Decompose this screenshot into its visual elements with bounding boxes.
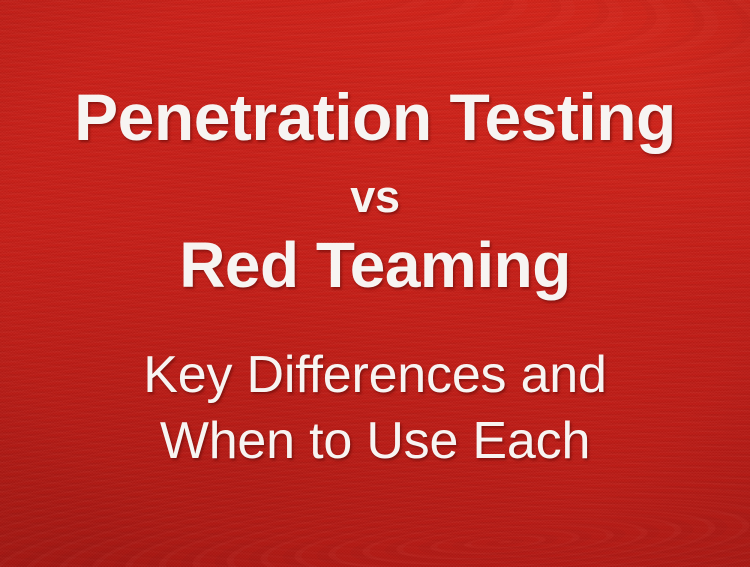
headline-line-1: Penetration Testing bbox=[74, 84, 676, 150]
headline-line-2: Red Teaming bbox=[179, 233, 571, 297]
text-block: Penetration Testing vs Red Teaming Key D… bbox=[0, 0, 750, 567]
headline-separator-vs: vs bbox=[350, 174, 399, 219]
subheading-line-2: When to Use Each bbox=[160, 415, 590, 467]
title-card: Penetration Testing vs Red Teaming Key D… bbox=[0, 0, 750, 567]
subheading-line-1: Key Differences and bbox=[143, 349, 607, 401]
